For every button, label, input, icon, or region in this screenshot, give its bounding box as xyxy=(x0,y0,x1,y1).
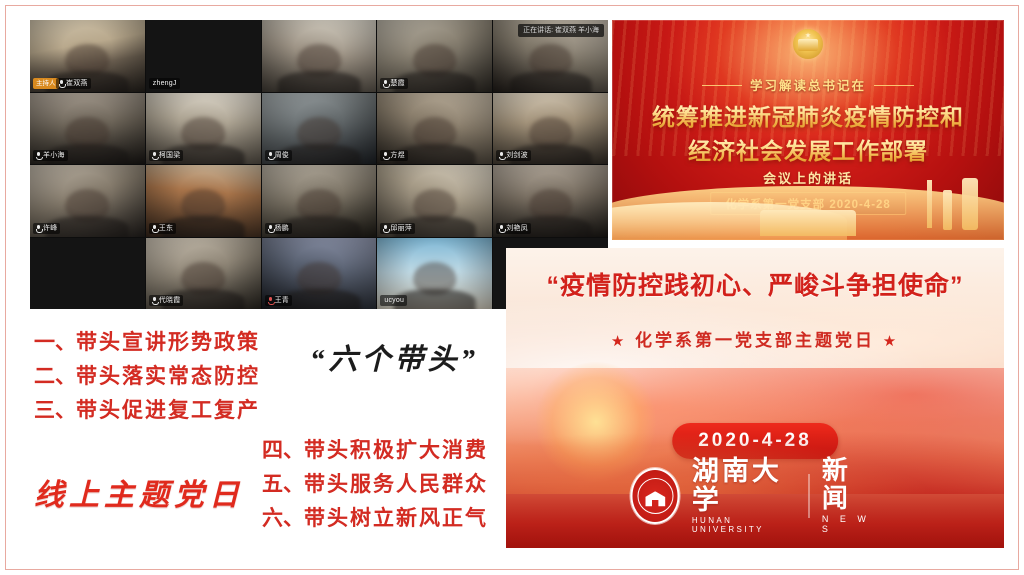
news-label-block: 新闻 N E W S xyxy=(822,457,880,534)
participant-tile[interactable] xyxy=(30,238,145,310)
participant-name-label: 崔双燕 xyxy=(56,78,91,89)
slogan-item-text: 带头宣讲形势政策 xyxy=(76,331,260,354)
banner-title-line2: 经济社会发展工作部署 xyxy=(612,132,1004,166)
slide-page: 主持人崔双燕zhengJ楚霞羊小海柯国梁周俊方煜刘剑波许峰王东杨鹏邱丽萍刘艳凤代… xyxy=(0,0,1024,575)
star-left-icon: ★ xyxy=(611,333,627,350)
mic-icon xyxy=(268,225,273,232)
kicker-rule-left xyxy=(702,85,742,86)
party-day-poster-image: “疫情防控践初心、严峻斗争担使命” ★ 化学系第一党支部主题党日 ★ 2020-… xyxy=(506,248,1004,548)
mic-icon xyxy=(499,225,504,232)
participant-name-text: 代晓霞 xyxy=(159,295,181,306)
participant-name-text: 刘剑波 xyxy=(506,150,528,161)
participant-tile[interactable]: 邱丽萍 xyxy=(377,165,492,237)
kicker-rule-right xyxy=(874,85,914,86)
national-emblem-icon: ★ xyxy=(793,29,823,59)
news-label-cn: 新闻 xyxy=(822,457,880,512)
participant-tile[interactable]: 代晓霞 xyxy=(146,238,261,310)
participant-name-label: 王东 xyxy=(149,223,176,234)
participant-name-text: 邱丽萍 xyxy=(390,223,412,234)
mic-icon xyxy=(152,152,157,159)
participant-tile[interactable]: 方煜 xyxy=(377,93,492,165)
slogan-item-number: 四、 xyxy=(262,439,304,462)
slogan-item: 一、带头宣讲形势政策 xyxy=(34,326,260,360)
slogan-item-text: 带头积极扩大消费 xyxy=(304,439,488,462)
participant-video-feed xyxy=(262,20,377,92)
university-name-cn: 湖南大学 xyxy=(692,457,797,514)
participant-name-text: 羊小海 xyxy=(43,150,65,161)
mic-icon xyxy=(152,297,157,304)
slogan-item: 四、带头积极扩大消费 xyxy=(262,434,488,468)
skyline-tower-right xyxy=(962,178,978,230)
participant-tile[interactable]: 王东 xyxy=(146,165,261,237)
active-speaker-status: 正在讲话: 崔双燕 羊小海 xyxy=(518,24,604,37)
mic-muted-icon xyxy=(268,297,273,304)
news-label-en: N E W S xyxy=(822,514,880,534)
poster-subtitle: ★ 化学系第一党支部主题党日 ★ xyxy=(506,326,1004,351)
star-right-icon: ★ xyxy=(883,333,899,350)
participant-tile[interactable]: 王青 xyxy=(262,238,377,310)
participant-tile[interactable]: 主持人崔双燕 xyxy=(30,20,145,92)
participant-tile[interactable]: 刘剑波 xyxy=(493,93,608,165)
participant-name-label: 刘剑波 xyxy=(496,150,531,161)
participant-name-text: 周俊 xyxy=(275,150,289,161)
participant-name-text: 刘艳凤 xyxy=(506,223,528,234)
participant-name-label: ucyou xyxy=(380,295,407,306)
slogan-item-number: 一、 xyxy=(34,331,76,354)
hunan-university-news-logo: 湖南大学 HUNAN UNIVERSITY 新闻 N E W S xyxy=(631,457,880,534)
university-name-block: 湖南大学 HUNAN UNIVERSITY xyxy=(692,457,797,534)
participant-name-label: 杨鹏 xyxy=(265,223,292,234)
participant-name-label: 刘艳凤 xyxy=(496,223,531,234)
logo-divider xyxy=(809,474,810,518)
slogan-list-column-2: 四、带头积极扩大消费五、带头服务人民群众六、带头树立新风正气 xyxy=(262,434,488,536)
participant-name-label: 许峰 xyxy=(33,223,60,234)
calligraphy-footer: 线上主题党日 xyxy=(34,470,244,514)
slogan-item: 五、带头服务人民群众 xyxy=(262,468,488,502)
participant-name-label: 楚霞 xyxy=(380,78,407,89)
slogan-item-number: 五、 xyxy=(262,473,304,496)
mic-icon xyxy=(383,80,388,87)
participant-tile[interactable] xyxy=(262,20,377,92)
participant-name-text: ucyou xyxy=(384,295,404,306)
participant-tile[interactable]: ucyou xyxy=(377,238,492,310)
skyline-antenna xyxy=(927,180,932,228)
participant-tile[interactable]: 杨鹏 xyxy=(262,165,377,237)
participant-name-text: 楚霞 xyxy=(390,78,404,89)
slogan-item: 三、带头促进复工复产 xyxy=(34,394,260,428)
mic-icon xyxy=(383,152,388,159)
participant-tile[interactable]: 周俊 xyxy=(262,93,377,165)
mic-icon xyxy=(152,225,157,232)
slogan-item-text: 带头服务人民群众 xyxy=(304,473,488,496)
participant-name-label: 羊小海 xyxy=(33,150,68,161)
mic-icon xyxy=(383,225,388,232)
banner-kicker-text: 学习解读总书记在 xyxy=(750,79,866,93)
poster-title: “疫情防控践初心、严峻斗争担使命” xyxy=(506,266,1004,302)
poster-subtitle-text: 化学系第一党支部主题党日 xyxy=(635,331,875,350)
participant-tile[interactable]: 柯国梁 xyxy=(146,93,261,165)
participant-tile[interactable]: 刘艳凤 xyxy=(493,165,608,237)
participant-tile[interactable]: zhengJ xyxy=(146,20,261,92)
banner-title-line1: 统筹推进新冠肺炎疫情防控和 xyxy=(612,98,1004,132)
banner-kicker: 学习解读总书记在 xyxy=(612,75,1004,94)
skyline-gate xyxy=(760,210,856,236)
mic-icon xyxy=(36,225,41,232)
participant-name-text: 崔双燕 xyxy=(66,78,88,89)
participant-name-text: 王东 xyxy=(159,223,173,234)
university-name-en: HUNAN UNIVERSITY xyxy=(692,516,797,534)
participant-name-text: 许峰 xyxy=(43,223,57,234)
participant-name-text: 方煜 xyxy=(390,150,404,161)
participant-tile[interactable]: 羊小海 xyxy=(30,93,145,165)
participant-name-label: zhengJ xyxy=(149,78,180,89)
university-crest-icon xyxy=(631,468,680,524)
slogan-item-number: 二、 xyxy=(34,365,76,388)
participant-tile[interactable]: 许峰 xyxy=(30,165,145,237)
participant-name-label: 周俊 xyxy=(265,150,292,161)
mic-icon xyxy=(36,152,41,159)
calligraphy-heading: “六个带头” xyxy=(310,336,479,378)
slogan-item-text: 带头落实常态防控 xyxy=(76,365,260,388)
participant-name-label: 邱丽萍 xyxy=(380,223,415,234)
study-banner-image: ★ 学习解读总书记在 统筹推进新冠肺炎疫情防控和 经济社会发展工作部署 会议上的… xyxy=(612,20,1004,240)
emblem-gate-icon xyxy=(798,39,818,51)
participant-name-text: 王青 xyxy=(275,295,289,306)
participant-tile[interactable]: 楚霞 xyxy=(377,20,492,92)
banner-skyline-decoration xyxy=(612,166,1004,240)
slogan-item-number: 六、 xyxy=(262,507,304,530)
slogan-list-column-1: 一、带头宣讲形势政策二、带头落实常态防控三、带头促进复工复产 xyxy=(34,326,260,428)
participant-name-label: 王青 xyxy=(265,295,292,306)
skyline-tower-mid xyxy=(943,190,952,230)
slogan-item-text: 带头树立新风正气 xyxy=(304,507,488,530)
participant-name-label: 方煜 xyxy=(380,150,407,161)
slogan-item-text: 带头促进复工复产 xyxy=(76,399,260,422)
slogan-item: 二、带头落实常态防控 xyxy=(34,360,260,394)
host-badge: 主持人 xyxy=(33,78,59,89)
participant-name-label: 柯国梁 xyxy=(149,150,184,161)
video-vignette xyxy=(262,20,377,92)
mic-icon xyxy=(268,152,273,159)
participant-name-text: 柯国梁 xyxy=(159,150,181,161)
slogan-item-number: 三、 xyxy=(34,399,76,422)
mic-icon xyxy=(59,80,64,87)
participant-name-text: 杨鹏 xyxy=(275,223,289,234)
participant-name-text: zhengJ xyxy=(153,78,177,89)
slogan-item: 六、带头树立新风正气 xyxy=(262,502,488,536)
participant-name-label: 代晓霞 xyxy=(149,295,184,306)
mic-icon xyxy=(499,152,504,159)
